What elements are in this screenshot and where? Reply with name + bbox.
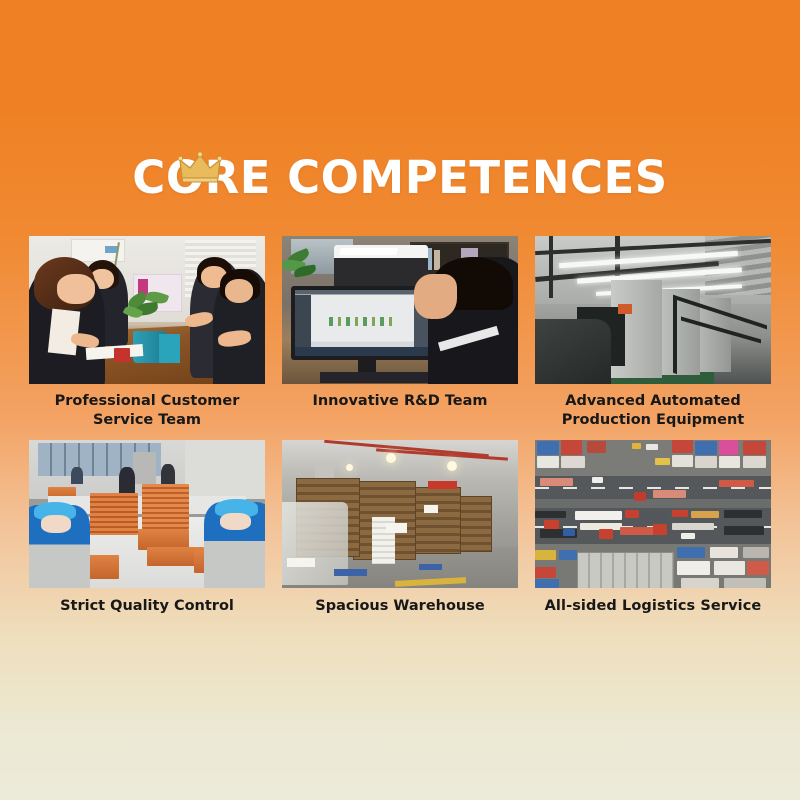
- crown-icon: [178, 152, 222, 184]
- meeting-room-photo: [29, 236, 265, 384]
- competence-card-spacious-warehouse[interactable]: Spacious Warehouse: [282, 440, 518, 626]
- card-caption: Advanced Automated Production Equipment: [535, 384, 771, 440]
- rd-designer-photo: [282, 236, 518, 384]
- core-competences-poster: CORE COMPETENCES: [0, 0, 800, 800]
- competence-card-innovative-rd-team[interactable]: Innovative R&D Team: [282, 236, 518, 440]
- card-caption: Innovative R&D Team: [282, 384, 518, 421]
- warehouse-photo: [282, 440, 518, 588]
- competence-card-advanced-automated-production-equipment[interactable]: Advanced Automated Production Equipment: [535, 236, 771, 440]
- card-caption: Spacious Warehouse: [282, 588, 518, 626]
- page-title-block: CORE COMPETENCES: [0, 150, 800, 206]
- competence-card-professional-customer-service-team[interactable]: Professional Customer Service Team: [29, 236, 265, 440]
- card-caption: Professional Customer Service Team: [29, 384, 265, 440]
- competence-card-strict-quality-control[interactable]: Strict Quality Control: [29, 440, 265, 626]
- competence-card-all-sided-logistics-service[interactable]: All-sided Logistics Service: [535, 440, 771, 626]
- card-caption: Strict Quality Control: [29, 588, 265, 626]
- competences-grid: Professional Customer Service Team: [29, 236, 771, 626]
- printing-press-photo: [535, 236, 771, 384]
- quality-control-photo: [29, 440, 265, 588]
- logistics-aerial-photo: [535, 440, 771, 588]
- card-caption: All-sided Logistics Service: [535, 588, 771, 626]
